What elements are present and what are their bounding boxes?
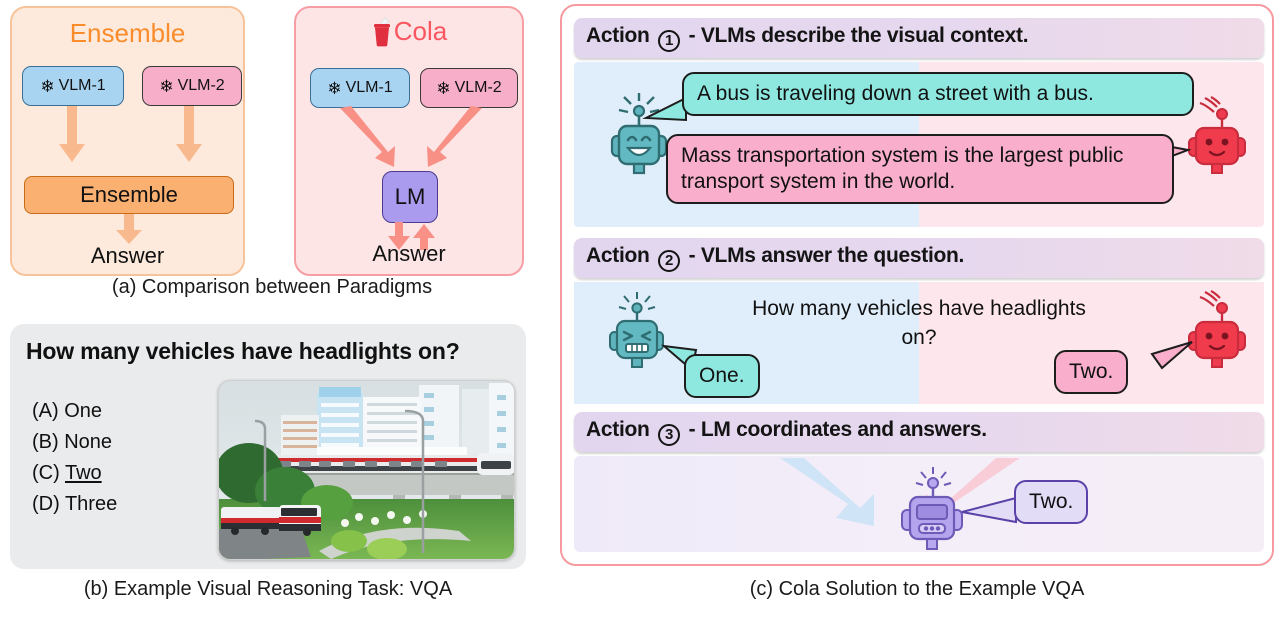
vqa-options-list: (A) One (B) None (C) Two (D) Three	[32, 396, 117, 520]
action-3-final-bubble: Two.	[1014, 480, 1088, 524]
action-3-number: 3	[658, 424, 680, 446]
vqa-option-b[interactable]: (B) None	[32, 427, 117, 458]
red-robot-smile-icon	[1186, 96, 1248, 176]
lm-robot-icon	[896, 462, 968, 552]
vqa-street-scene-photo	[218, 380, 515, 560]
action-3-body: Two.	[574, 456, 1264, 552]
panel-b-caption: (b) Example Visual Reasoning Task: VQA	[0, 578, 536, 601]
vqa-option-d-key: (D)	[32, 493, 60, 515]
action-1-title: - VLMs describe the visual context.	[689, 24, 1029, 47]
action-3-header-text: Action 3 - LM coordinates and answers.	[574, 418, 987, 446]
vqa-option-d-text: Three	[65, 493, 117, 515]
action-2-title: - VLMs answer the question.	[689, 244, 964, 267]
cola-converging-arrows	[296, 106, 526, 174]
action-2-header: Action 2 - VLMs answer the question.	[574, 238, 1264, 278]
action-1-blue-bubble: A bus is traveling down a street with a …	[682, 72, 1194, 116]
panel-a-caption: (a) Comparison between Paradigms	[8, 276, 536, 299]
vqa-option-a-text: One	[64, 400, 102, 422]
vqa-option-d[interactable]: (D) Three	[32, 489, 117, 520]
ensemble-answer-label: Answer	[12, 243, 243, 269]
cola-vlm1-label: VLM-1	[346, 79, 393, 97]
ensemble-arrows	[12, 104, 247, 178]
ensemble-combiner-box: Ensemble	[24, 176, 234, 214]
action-2-number: 2	[658, 250, 680, 272]
action-2-header-text: Action 2 - VLMs answer the question.	[574, 244, 964, 272]
action-2-question: How many vehicles have headlights on?	[749, 294, 1089, 352]
vqa-question: How many vehicles have headlights on?	[26, 338, 460, 365]
teal-robot-squint-icon	[606, 290, 668, 374]
snowflake-icon: ❄	[436, 80, 450, 97]
panel-c-cola-solution: Action 1 - VLMs describe the visual cont…	[560, 4, 1274, 566]
action-1-number: 1	[658, 30, 680, 52]
vqa-option-a-key: (A)	[32, 400, 59, 422]
ensemble-vlm1-box: ❄ VLM-1	[22, 66, 124, 106]
action-1-header: Action 1 - VLMs describe the visual cont…	[574, 18, 1264, 58]
two-bubble-tail	[1148, 340, 1196, 372]
cola-lm-label: LM	[395, 184, 426, 210]
action-1-body: A bus is traveling down a street with a …	[574, 62, 1264, 227]
snowflake-icon: ❄	[327, 80, 341, 97]
vqa-option-c-text: Two	[65, 462, 102, 484]
snowflake-icon: ❄	[159, 78, 173, 95]
cola-cup-icon	[371, 17, 393, 47]
panel-c-caption: (c) Cola Solution to the Example VQA	[560, 578, 1274, 601]
action-1-label: Action	[586, 24, 650, 47]
figure-root: Ensemble ❄ VLM-1 ❄ VLM-2 Ensemble	[0, 0, 1280, 622]
cola-title: Cola	[394, 16, 447, 47]
cola-answer-label: Answer	[296, 241, 522, 267]
ensemble-vlm1-label: VLM-1	[59, 77, 106, 95]
panel-a: Ensemble ❄ VLM-1 ❄ VLM-2 Ensemble	[8, 4, 536, 304]
ensemble-vlm2-box: ❄ VLM-2	[142, 66, 242, 106]
ensemble-vlm2-label: VLM-2	[178, 77, 225, 95]
cola-title-row: Cola	[296, 16, 522, 47]
action-2-blue-bubble: One.	[684, 354, 760, 398]
action-3-title: - LM coordinates and answers.	[689, 418, 987, 441]
vqa-option-b-text: None	[64, 431, 112, 453]
action-3-header: Action 3 - LM coordinates and answers.	[574, 412, 1264, 452]
action-3-label: Action	[586, 418, 650, 441]
cola-paradigm-card: Cola ❄ VLM-1 ❄ VLM-2 LM	[294, 6, 524, 276]
action-2-pink-bubble: Two.	[1054, 350, 1128, 394]
ensemble-paradigm-card: Ensemble ❄ VLM-1 ❄ VLM-2 Ensemble	[10, 6, 245, 276]
panel-b-vqa-card: How many vehicles have headlights on? (A…	[10, 324, 526, 569]
vqa-option-b-key: (B)	[32, 431, 59, 453]
vqa-option-c[interactable]: (C) Two	[32, 458, 117, 489]
ensemble-title: Ensemble	[12, 18, 243, 49]
cola-vlm1-box: ❄ VLM-1	[310, 68, 410, 108]
cola-vlm2-box: ❄ VLM-2	[420, 68, 518, 108]
action-1-header-text: Action 1 - VLMs describe the visual cont…	[574, 24, 1028, 52]
vqa-option-a[interactable]: (A) One	[32, 396, 117, 427]
action-2-label: Action	[586, 244, 650, 267]
vqa-option-c-key: (C)	[32, 462, 60, 484]
action-2-body: How many vehicles have headlights on? On…	[574, 282, 1264, 404]
ensemble-answer-arrow	[12, 214, 247, 246]
ensemble-combiner-label: Ensemble	[80, 182, 178, 208]
action-1-pink-bubble: Mass transportation system is the larges…	[666, 134, 1174, 204]
cola-lm-box: LM	[382, 171, 438, 223]
snowflake-icon: ❄	[40, 78, 54, 95]
cola-vlm2-label: VLM-2	[455, 79, 502, 97]
